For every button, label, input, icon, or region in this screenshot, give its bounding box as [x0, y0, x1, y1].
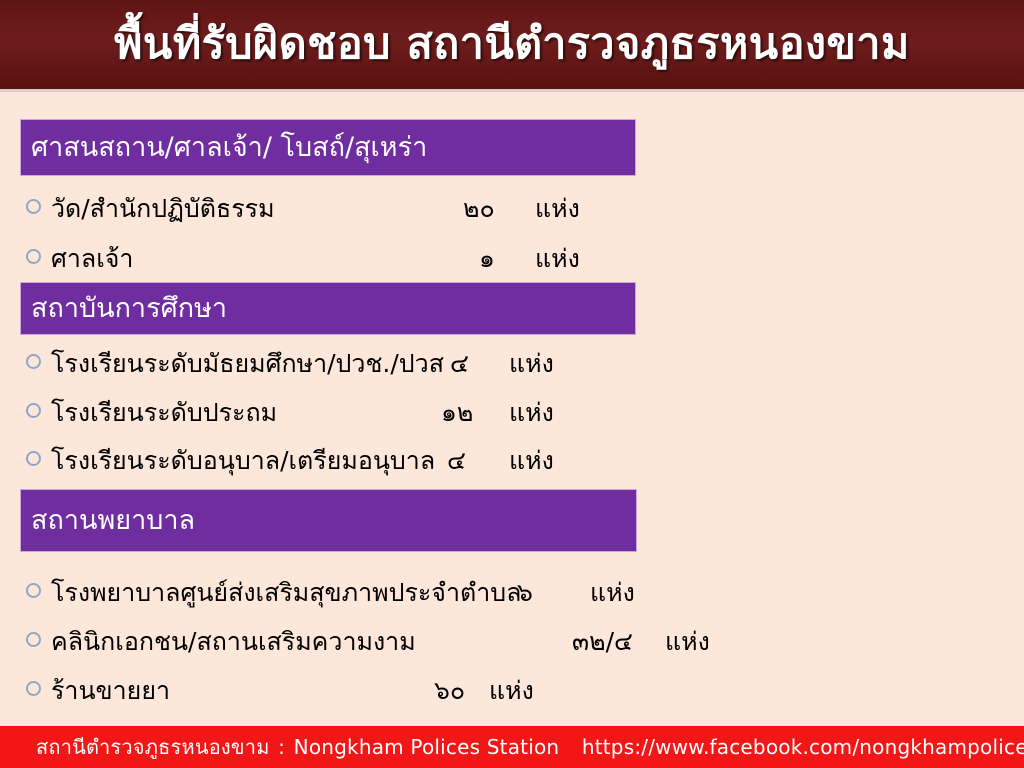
section-header-education: สถาบันการศึกษา [20, 282, 636, 335]
footer-text: สถานีตำรวจภูธรหนองขาม : Nongkham Polices… [36, 731, 1024, 763]
list-item-primary-school: โรงเรียนระดับประถม ๑๒ แห่ง [26, 393, 554, 433]
list-item-label: โรงเรียนระดับอนุบาล/เตรียมอนุบาล [51, 441, 447, 481]
list-item-temple: วัด/สำนักปฏิบัติธรรม ๒๐ แห่ง [26, 189, 580, 229]
list-item-unit: แห่ง [509, 344, 554, 384]
list-item-unit: แห่ง [489, 671, 534, 711]
hollow-circle-bullet-icon [26, 451, 41, 466]
hollow-circle-bullet-icon [26, 681, 41, 696]
list-item-label: ร้านขายยา [51, 671, 434, 711]
list-item-label: วัด/สำนักปฏิบัติธรรม [51, 189, 463, 229]
list-item-unit: แห่ง [509, 441, 554, 481]
hollow-circle-bullet-icon [26, 354, 41, 369]
list-item-secondary-school: โรงเรียนระดับมัธยมศึกษา/ปวช./ปวส ๔ แห่ง [26, 344, 554, 384]
hollow-circle-bullet-icon [26, 199, 41, 214]
section-title-medical: สถานพยาบาล [31, 506, 195, 536]
list-item-kindergarten: โรงเรียนระดับอนุบาล/เตรียมอนุบาล ๔ แห่ง [26, 441, 554, 481]
hollow-circle-bullet-icon [26, 249, 41, 264]
list-item-count: ๑๒ [441, 393, 509, 433]
list-item-label: โรงพยาบาลศูนย์ส่งเสริมสุขภาพประจำตำบล [51, 573, 517, 613]
list-item-count: ๔ [450, 344, 509, 384]
hollow-circle-bullet-icon [26, 583, 41, 598]
slide-title-bar: พื้นที่รับผิดชอบ สถานีตำรวจภูธรหนองขาม [0, 0, 1024, 92]
list-item-label: โรงเรียนระดับมัธยมศึกษา/ปวช./ปวส [51, 344, 450, 384]
footer-separator: : [276, 735, 287, 759]
list-item-count: ๑ [479, 239, 535, 279]
list-item-count: ๒๐ [463, 189, 535, 229]
page-title: พื้นที่รับผิดชอบ สถานีตำรวจภูธรหนองขาม [114, 22, 910, 67]
list-item-unit: แห่ง [535, 189, 580, 229]
list-item-label: โรงเรียนระดับประถม [51, 393, 441, 433]
list-item-pharmacy: ร้านขายยา ๖๐ แห่ง [26, 671, 534, 711]
section-title-religion: ศาสนสถาน/ศาลเจ้า/ โบสถ์/สุเหร่า [31, 133, 427, 163]
slide-content: ศาสนสถาน/ศาลเจ้า/ โบสถ์/สุเหร่า วัด/สำนั… [0, 92, 1024, 726]
list-item-unit: แห่ง [535, 239, 580, 279]
footer-station-english: Nongkham Polices Station [294, 735, 560, 759]
list-item-health-center: โรงพยาบาลศูนย์ส่งเสริมสุขภาพประจำตำบล ๖ … [26, 573, 635, 613]
footer-facebook-url[interactable]: https://www.facebook.com/nongkhampolice [566, 735, 1024, 759]
list-item-label: ศาลเจ้า [51, 239, 479, 279]
list-item-unit: แห่ง [665, 622, 710, 662]
section-header-religion: ศาสนสถาน/ศาลเจ้า/ โบสถ์/สุเหร่า [20, 119, 636, 176]
hollow-circle-bullet-icon [26, 403, 41, 418]
list-item-count: ๓๒/๔ [572, 622, 665, 662]
list-item-count: ๖๐ [434, 671, 489, 711]
list-item-unit: แห่ง [509, 393, 554, 433]
list-item-count: ๖ [517, 573, 590, 613]
list-item-label: คลินิกเอกชน/สถานเสริมความงาม [51, 622, 572, 662]
hollow-circle-bullet-icon [26, 632, 41, 647]
list-item-count: ๔ [447, 441, 509, 481]
section-header-medical: สถานพยาบาล [20, 489, 637, 552]
list-item-shrine: ศาลเจ้า ๑ แห่ง [26, 239, 580, 279]
section-title-education: สถาบันการศึกษา [31, 294, 227, 324]
list-item-private-clinic: คลินิกเอกชน/สถานเสริมความงาม ๓๒/๔ แห่ง [26, 622, 710, 662]
footer-station-thai: สถานีตำรวจภูธรหนองขาม [36, 735, 270, 759]
list-item-unit: แห่ง [590, 573, 635, 613]
slide-footer-bar: สถานีตำรวจภูธรหนองขาม : Nongkham Polices… [0, 726, 1024, 768]
